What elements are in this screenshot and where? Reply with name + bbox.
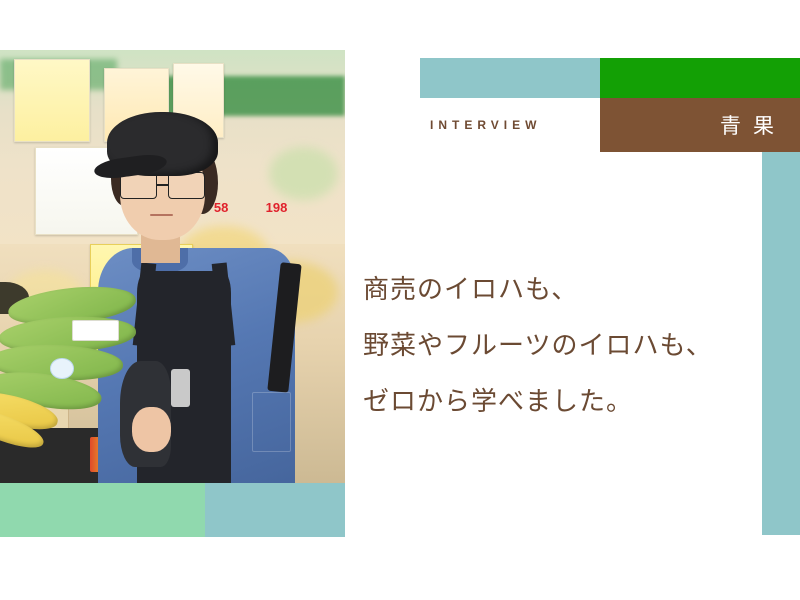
accent-block-green-top [600,58,800,98]
headline-line-1: 商売のイロハも、 [363,262,783,318]
banana-round-sticker [50,358,74,379]
mouth [150,214,174,217]
glasses-bridge [157,184,167,186]
headline-line-2: 野菜やフルーツのイロハも、 [363,318,783,374]
interview-headline: 商売のイロハも、 野菜やフルーツのイロハも、 ゼロから学べました。 [363,262,783,430]
interview-slide: 58 198 1198 350 [0,0,800,600]
banana-label-sticker [72,320,119,341]
glasses-icon [120,172,206,198]
photo-scene: 58 198 1198 350 [0,50,345,490]
banana-bunch [0,279,200,437]
interview-photo: 58 198 1198 350 [0,50,345,490]
accent-block-green-bottom [0,483,205,537]
accent-bar-teal-top [420,58,600,98]
category-badge-label: 青果 [720,110,800,140]
price-tag-a [14,59,90,143]
section-eyebrow-label: INTERVIEW [430,118,541,132]
headline-line-3: ゼロから学べました。 [363,374,783,430]
accent-block-teal-bottom [205,483,345,537]
category-badge-bar: 青果 [600,98,800,152]
glasses-lens-right [168,172,206,198]
shirt-pocket [252,392,291,453]
